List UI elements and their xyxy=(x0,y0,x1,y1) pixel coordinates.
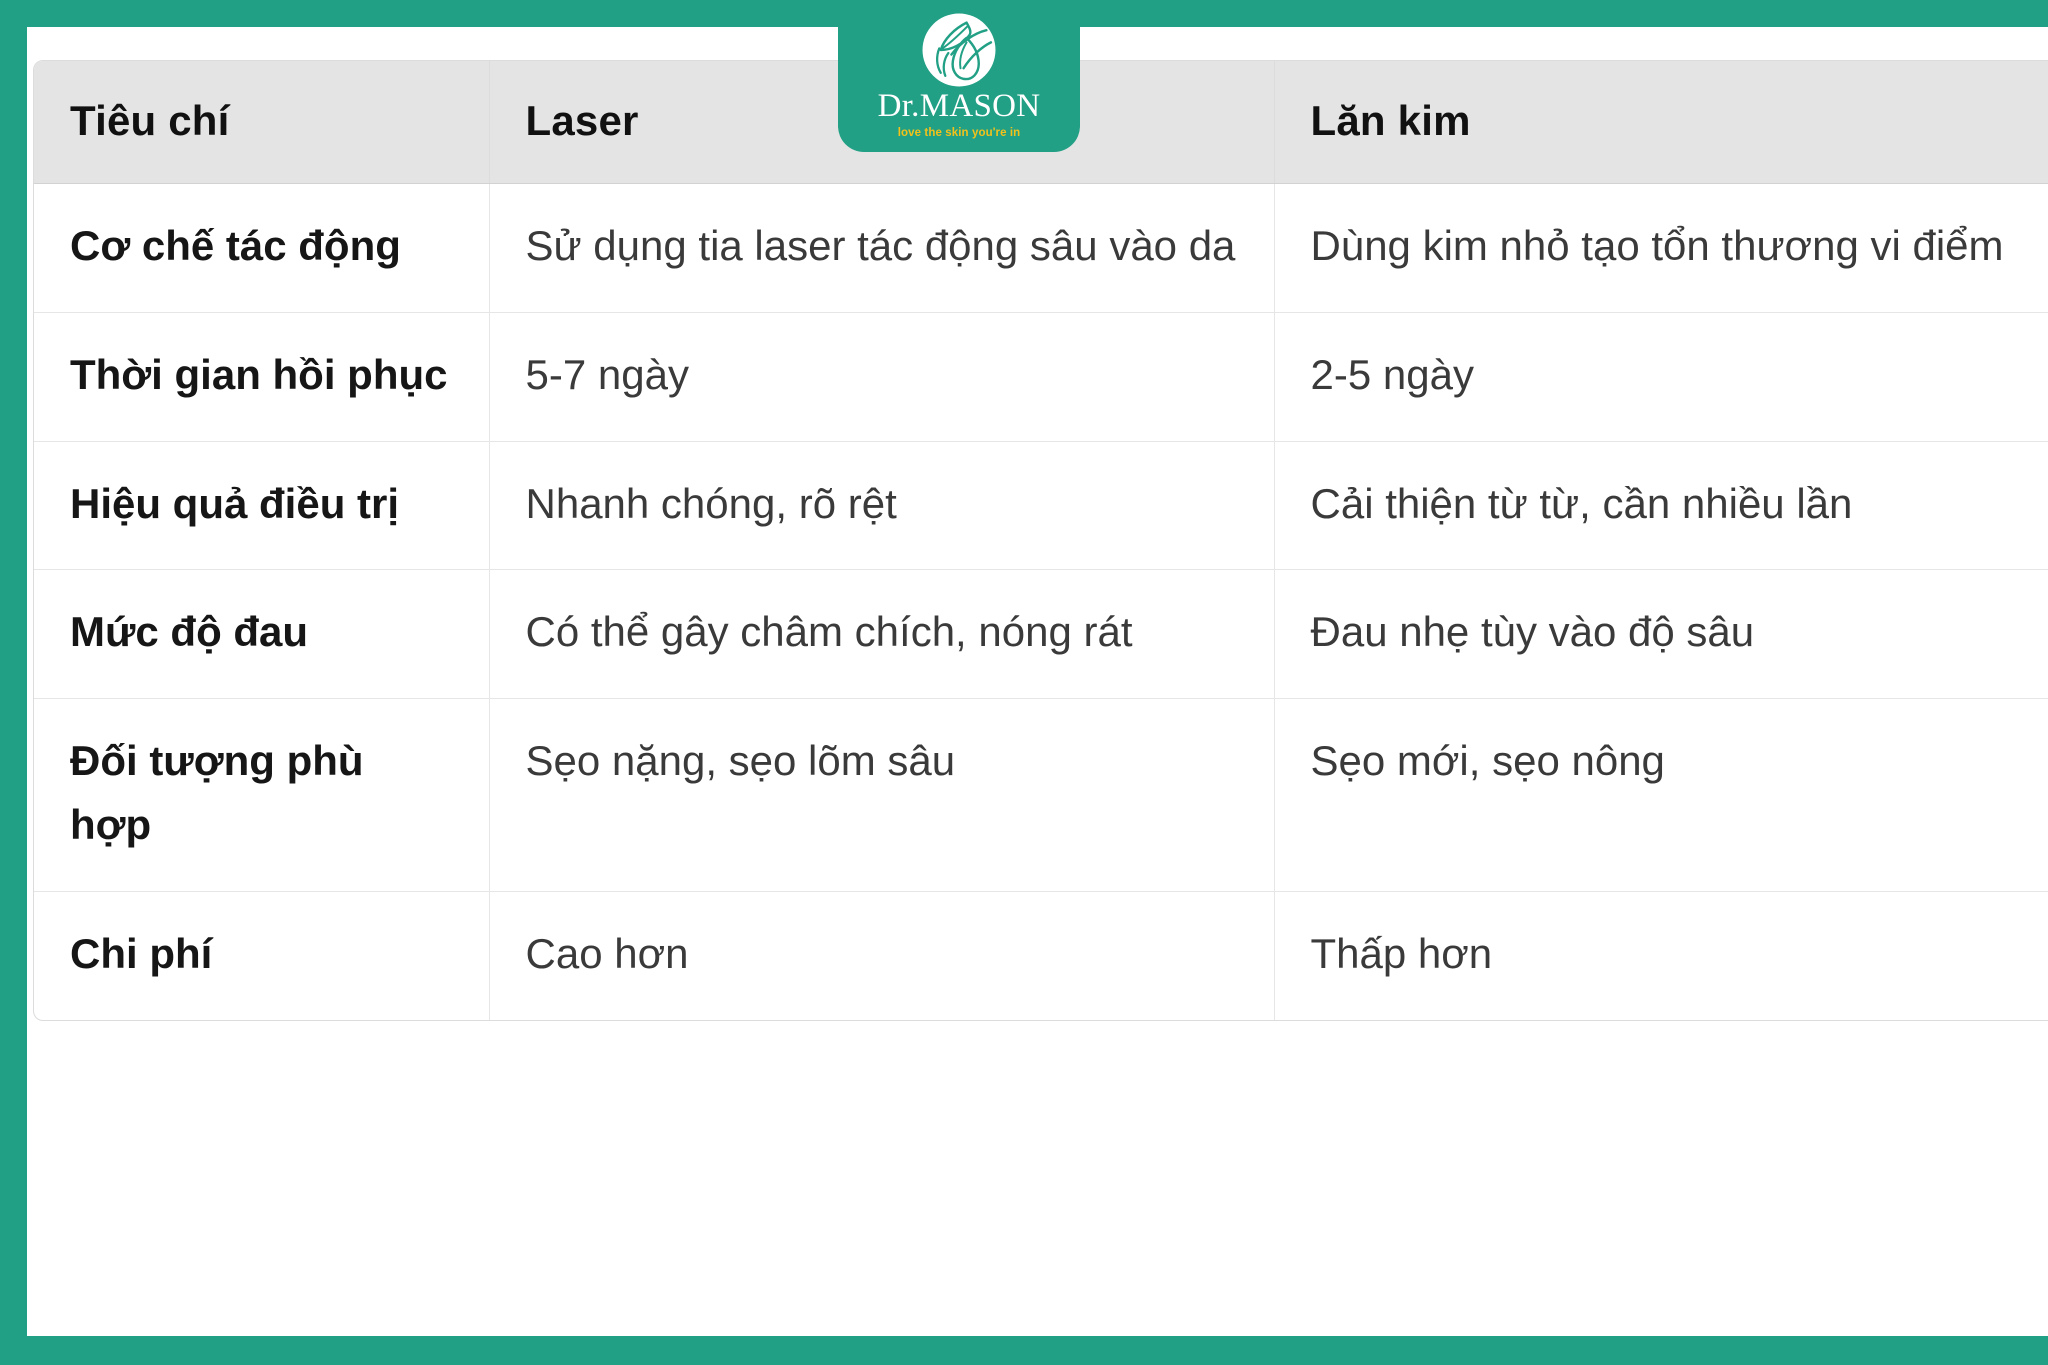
table-row: Hiệu quả điều trị Nhanh chóng, rõ rệt Cả… xyxy=(34,441,2048,570)
brand-logo-badge: Dr.MASON love the skin you're in xyxy=(838,0,1080,152)
row-laser-value: Có thể gây châm chích, nóng rát xyxy=(489,570,1274,699)
table-row: Thời gian hồi phục 5-7 ngày 2-5 ngày xyxy=(34,312,2048,441)
leaf-circle-emblem-icon xyxy=(921,12,997,88)
row-microneedling-value: Cải thiện từ từ, cần nhiều lần xyxy=(1274,441,2048,570)
column-header-microneedling: Lăn kim xyxy=(1274,61,2048,184)
row-laser-value: Sẹo nặng, sẹo lõm sâu xyxy=(489,699,1274,892)
row-criterion-label: Cơ chế tác động xyxy=(34,184,489,313)
table-row: Cơ chế tác động Sử dụng tia laser tác độ… xyxy=(34,184,2048,313)
table-body: Cơ chế tác động Sử dụng tia laser tác độ… xyxy=(34,184,2048,1020)
row-laser-value: Nhanh chóng, rõ rệt xyxy=(489,441,1274,570)
row-criterion-label: Mức độ đau xyxy=(34,570,489,699)
row-microneedling-value: Thấp hơn xyxy=(1274,891,2048,1019)
row-microneedling-value: Dùng kim nhỏ tạo tổn thương vi điểm xyxy=(1274,184,2048,313)
comparison-table: Tiêu chí Laser Lăn kim Cơ chế tác động S… xyxy=(34,61,2048,1020)
logo-tagline: love the skin you're in xyxy=(898,128,1021,140)
row-microneedling-value: 2-5 ngày xyxy=(1274,312,2048,441)
row-criterion-label: Chi phí xyxy=(34,891,489,1019)
row-laser-value: 5-7 ngày xyxy=(489,312,1274,441)
row-laser-value: Cao hơn xyxy=(489,891,1274,1019)
row-microneedling-value: Sẹo mới, sẹo nông xyxy=(1274,699,2048,892)
logo-wordmark: Dr.MASON xyxy=(878,90,1041,123)
comparison-table-container: Tiêu chí Laser Lăn kim Cơ chế tác động S… xyxy=(33,60,2048,1021)
row-microneedling-value: Đau nhẹ tùy vào độ sâu xyxy=(1274,570,2048,699)
row-laser-value: Sử dụng tia laser tác động sâu vào da xyxy=(489,184,1274,313)
table-row: Chi phí Cao hơn Thấp hơn xyxy=(34,891,2048,1019)
white-canvas: Tiêu chí Laser Lăn kim Cơ chế tác động S… xyxy=(27,27,2048,1336)
row-criterion-label: Thời gian hồi phục xyxy=(34,312,489,441)
table-row: Mức độ đau Có thể gây châm chích, nóng r… xyxy=(34,570,2048,699)
table-row: Đối tượng phù hợp Sẹo nặng, sẹo lõm sâu … xyxy=(34,699,2048,892)
column-header-criterion: Tiêu chí xyxy=(34,61,489,184)
row-criterion-label: Đối tượng phù hợp xyxy=(34,699,489,892)
row-criterion-label: Hiệu quả điều trị xyxy=(34,441,489,570)
